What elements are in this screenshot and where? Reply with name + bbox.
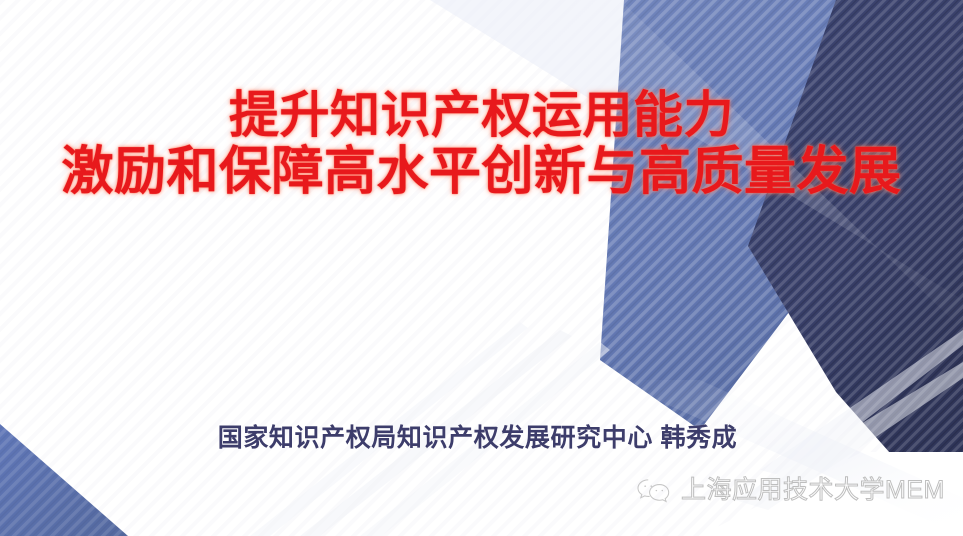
slide-text-layer: 提升知识产权运用能力 激励和保障高水平创新与高质量发展 国家知识产权局知识产权发…: [0, 0, 963, 536]
title-line-1: 提升知识产权运用能力: [0, 88, 963, 142]
slide-subtitle: 国家知识产权局知识产权发展研究中心 韩秀成: [0, 418, 963, 454]
watermark-label: 上海应用技术大学MEM: [681, 478, 945, 503]
wechat-icon: [636, 477, 672, 504]
subtitle-presenter-affiliation: 国家知识产权局知识产权发展研究中心 韩秀成: [218, 424, 738, 452]
slide-title: 提升知识产权运用能力 激励和保障高水平创新与高质量发展: [0, 88, 963, 200]
watermark: 上海应用技术大学MEM: [636, 477, 945, 504]
presentation-slide: 提升知识产权运用能力 激励和保障高水平创新与高质量发展 国家知识产权局知识产权发…: [0, 0, 963, 536]
title-line-2: 激励和保障高水平创新与高质量发展: [0, 144, 963, 200]
